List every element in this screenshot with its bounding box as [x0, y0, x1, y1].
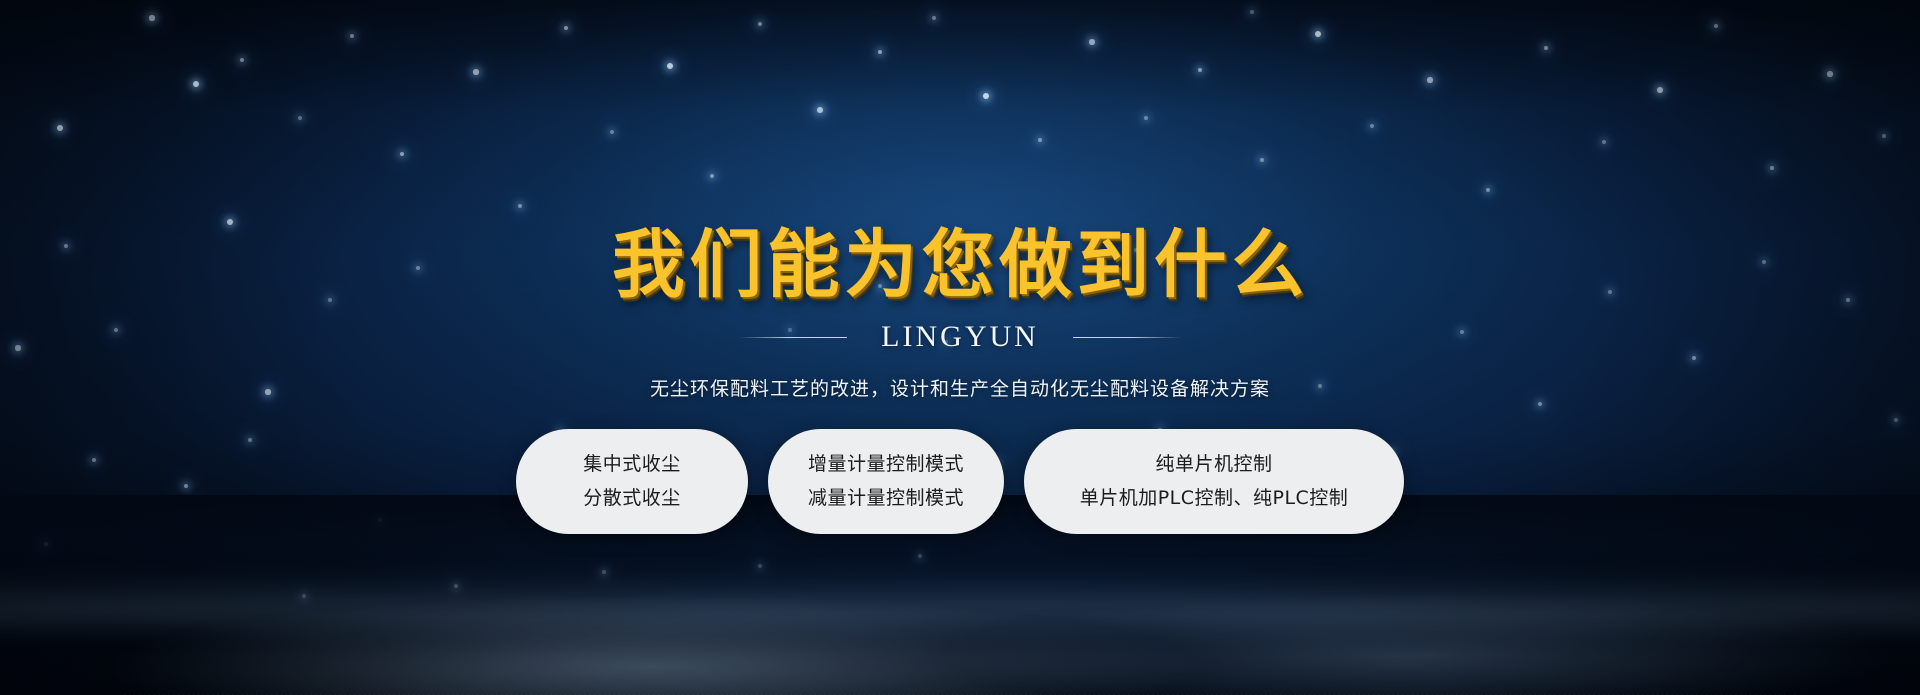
brand-subtitle: LINGYUN: [881, 320, 1039, 354]
feature-card-line-2: 单片机加PLC控制、纯PLC控制: [1080, 487, 1349, 510]
feature-card[interactable]: 集中式收尘 分散式收尘: [516, 429, 748, 534]
page-title: 我们能为您做到什么: [612, 228, 1309, 302]
banner-content: 我们能为您做到什么 LINGYUN 无尘环保配料工艺的改进，设计和生产全自动化无…: [0, 0, 1920, 695]
feature-card-line-2: 减量计量控制模式: [808, 487, 964, 510]
page-description: 无尘环保配料工艺的改进，设计和生产全自动化无尘配料设备解决方案: [650, 374, 1270, 401]
feature-card-line-1: 集中式收尘: [583, 453, 681, 476]
feature-card[interactable]: 纯单片机控制 单片机加PLC控制、纯PLC控制: [1024, 429, 1404, 534]
feature-card-line-1: 增量计量控制模式: [808, 453, 964, 476]
hero-banner: 我们能为您做到什么 LINGYUN 无尘环保配料工艺的改进，设计和生产全自动化无…: [0, 0, 1920, 695]
divider-line-right: [1073, 337, 1181, 338]
feature-card-list: 集中式收尘 分散式收尘 增量计量控制模式 减量计量控制模式 纯单片机控制 单片机…: [516, 429, 1404, 534]
feature-card[interactable]: 增量计量控制模式 减量计量控制模式: [768, 429, 1004, 534]
feature-card-line-1: 纯单片机控制: [1155, 453, 1272, 476]
subtitle-row: LINGYUN: [739, 320, 1181, 354]
feature-card-line-2: 分散式收尘: [583, 487, 681, 510]
divider-line-left: [739, 337, 847, 338]
